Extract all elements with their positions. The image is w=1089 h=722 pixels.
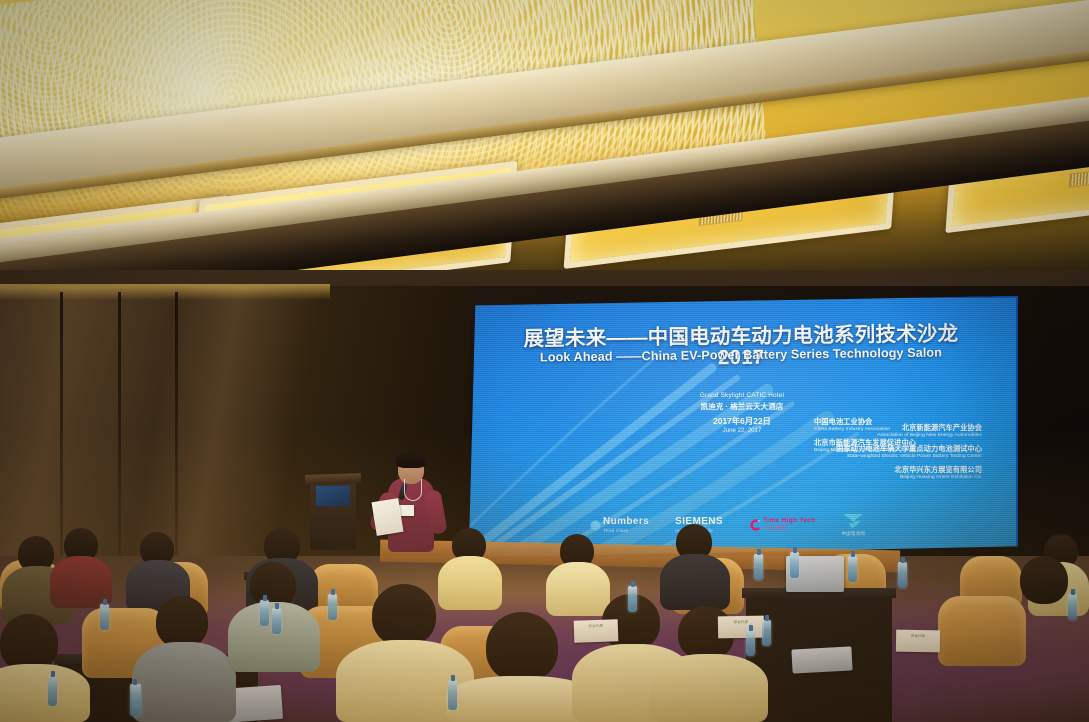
audience-head [156, 596, 208, 648]
water-bottle [272, 608, 281, 634]
organizer-name-en: Beijing Huaxing Orient Exhibition Co. [836, 475, 982, 480]
water-bottle [130, 684, 141, 716]
logo-tagline: Third Class [603, 529, 649, 533]
banquet-chair [938, 596, 1026, 666]
logo-name: Numbers [603, 517, 649, 527]
organizer-item: 北京华兴东方展览有限公司 Beijing Huaxing Orient Exhi… [836, 466, 982, 481]
water-bottle [762, 620, 771, 646]
audience-body [132, 642, 236, 722]
numbers-logo: Numbers Third Class [590, 517, 649, 533]
organizer-item: 中国电池工业协会 China Battery Industry Associat… [814, 418, 916, 433]
lectern-monitor [316, 486, 350, 506]
sponsor-logo-row: Numbers Third Class SIEMENS Ingenuity fo… [590, 508, 1000, 542]
lectern-top [305, 473, 361, 485]
wall-panel-seam [60, 292, 63, 582]
water-bottle [260, 600, 269, 626]
wall-panel-seam [175, 292, 178, 582]
wall-cove-light [0, 284, 330, 300]
name-tent-card: 参会代表 [718, 616, 764, 639]
audience-body [650, 654, 768, 722]
ceiling-vent-icon [1069, 168, 1089, 188]
water-bottle [328, 594, 337, 620]
logo-name: Time High Tech [763, 518, 816, 524]
name-tent-text: 参会代表 [896, 633, 940, 639]
laptop [791, 646, 852, 673]
circle-mark-icon [590, 520, 601, 531]
wing-logo: 中国电池网 [842, 513, 865, 537]
organizers-right-column: 中国电池工业协会 China Battery Industry Associat… [814, 418, 916, 460]
water-bottle [746, 630, 755, 656]
audience-body [438, 556, 502, 610]
led-screen-surface: 展望未来——中国电动车动力电池系列技术沙龙2017 Look Ahead ——C… [462, 296, 1018, 558]
organizer-name-en: China Battery Industry Association [814, 427, 916, 432]
audience-head [1020, 556, 1068, 604]
organizer-name-cn: 北京市新能源汽车发展促进中心 [814, 439, 916, 447]
audience-head [372, 584, 436, 646]
time-high-tech-logo: Time High Tech 川仪高科 [749, 518, 816, 532]
name-tent-card: 参会代表 [896, 630, 940, 653]
water-bottle [100, 604, 109, 630]
logo-tagline: 中国电池网 [842, 531, 865, 537]
logo-subname: 川仪高科 [763, 526, 816, 532]
c-mark-icon [749, 519, 761, 531]
water-bottle [790, 552, 799, 578]
audience-body [660, 554, 730, 610]
water-bottle [628, 586, 637, 612]
name-tent-text: 参会代表 [574, 622, 618, 629]
lanyard [404, 479, 422, 501]
audience-body [546, 562, 610, 616]
wall-panel-seam [118, 292, 121, 582]
water-bottle [1068, 594, 1077, 620]
wing-bird-icon [842, 513, 864, 530]
venue-name-en: Grand Skylight CATIC Hotel [612, 392, 872, 401]
organizer-name-en: Beijing New Energy Vehicle Promotion Cen… [814, 448, 916, 453]
water-bottle [448, 680, 457, 710]
name-tent-text: 参会代表 [718, 619, 764, 625]
name-tent-card: 参会代表 [574, 619, 619, 643]
water-bottle [848, 556, 857, 582]
audience-body [0, 664, 90, 722]
organizer-item: 北京市新能源汽车发展促进中心 Beijing New Energy Vehicl… [814, 439, 916, 454]
water-bottle [48, 676, 57, 706]
venue-name-cn: 凯迪克 · 格兰云天大酒店 [612, 402, 872, 412]
name-badge [399, 505, 414, 516]
water-bottle [754, 554, 763, 580]
speaker-papers [372, 498, 404, 536]
led-backdrop-screen: 展望未来——中国电动车动力电池系列技术沙龙2017 Look Ahead ——C… [462, 296, 1024, 564]
organizer-name-cn: 中国电池工业协会 [814, 418, 916, 426]
organizer-name-cn: 北京华兴东方展览有限公司 [836, 466, 982, 474]
audience-head [486, 612, 558, 682]
screen-content: 展望未来——中国电动车动力电池系列技术沙龙2017 Look Ahead ——C… [462, 296, 1018, 558]
conference-photo: 展望未来——中国电动车动力电池系列技术沙龙2017 Look Ahead ——C… [0, 0, 1089, 722]
water-bottle [898, 562, 907, 588]
speaker-hair [396, 452, 426, 468]
